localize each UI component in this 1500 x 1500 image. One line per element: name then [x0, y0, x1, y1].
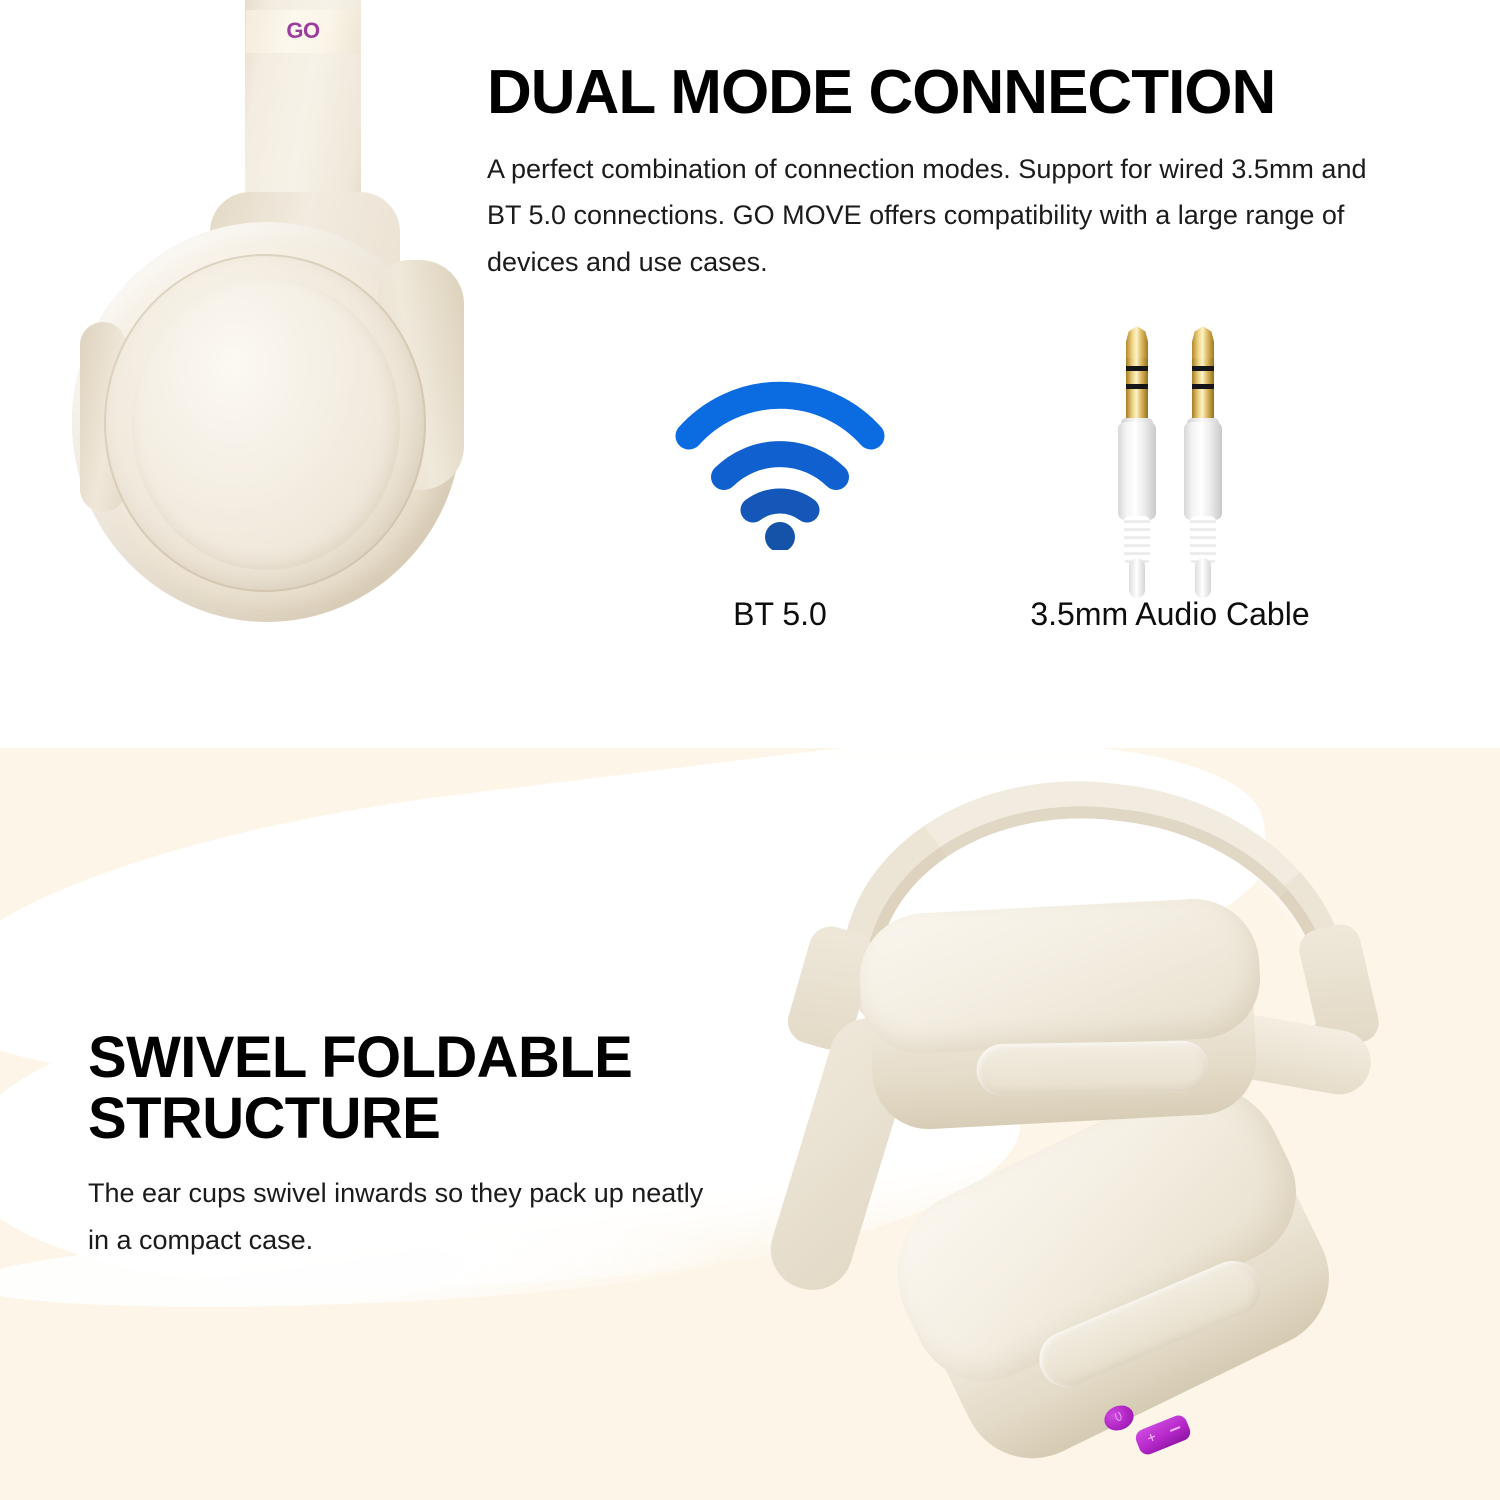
swivel-title-line-1: SWIVEL FOLDABLE [88, 1028, 788, 1089]
audio-jack-right [1179, 326, 1227, 594]
folded-ear-cup-upper [856, 896, 1267, 1147]
ear-cup-pad [856, 896, 1263, 1057]
ear-cup-face [132, 278, 400, 570]
jack-housing [1118, 422, 1156, 520]
swivel-copy-block: SWIVEL FOLDABLE STRUCTURE The ear cups s… [88, 1028, 788, 1264]
connection-modes-row: BT 5.0 [560, 318, 1420, 658]
dual-mode-title: DUAL MODE CONNECTION [487, 62, 1387, 124]
jack-insulator-ring [1192, 366, 1214, 371]
dual-mode-body-text: A perfect combination of connection mode… [487, 146, 1377, 285]
jack-tip [1192, 326, 1214, 360]
jack-housing [1184, 422, 1222, 520]
section-swivel-foldable-structure: SWIVEL FOLDABLE STRUCTURE The ear cups s… [0, 748, 1500, 1500]
section-dual-mode-connection: GO DUAL MODE CONNECTION A perfect combin… [0, 0, 1500, 748]
jack-insulator-ring [1192, 384, 1214, 389]
jack-strain-relief [1124, 516, 1150, 564]
headphone-folded-image [790, 778, 1490, 1498]
dual-mode-copy-block: DUAL MODE CONNECTION A perfect combinati… [487, 62, 1387, 285]
jack-tip [1126, 326, 1148, 360]
ear-cup-slot [976, 1040, 1209, 1096]
product-feature-page: GO DUAL MODE CONNECTION A perfect combin… [0, 0, 1500, 1500]
volume-down-glyph [1170, 1426, 1181, 1432]
jack-insulator-ring [1126, 384, 1148, 389]
feature-bluetooth-label: BT 5.0 [590, 596, 970, 633]
jack-cable [1129, 558, 1145, 598]
headphone-side-profile-image: GO [60, 0, 490, 672]
audio-cable-icon [1095, 326, 1245, 594]
brand-logo-go: GO [246, 18, 360, 44]
jack-strain-relief [1190, 516, 1216, 564]
headband-logo-strip: GO [246, 10, 360, 53]
volume-up-glyph: + [1143, 1429, 1160, 1446]
feature-audio-cable-label: 3.5mm Audio Cable [980, 596, 1360, 633]
wifi-signal-icon [675, 380, 885, 550]
swivel-body-text: The ear cups swivel inwards so they pack… [88, 1170, 728, 1265]
feature-audio-cable-art [980, 318, 1360, 590]
swivel-title-line-2: STRUCTURE [88, 1089, 788, 1150]
jack-cable [1195, 558, 1211, 598]
jack-insulator-ring [1126, 366, 1148, 371]
feature-bluetooth: BT 5.0 [590, 318, 970, 658]
feature-bluetooth-art [590, 318, 970, 590]
feature-audio-cable: 3.5mm Audio Cable [980, 318, 1360, 658]
audio-jack-left [1113, 326, 1161, 594]
